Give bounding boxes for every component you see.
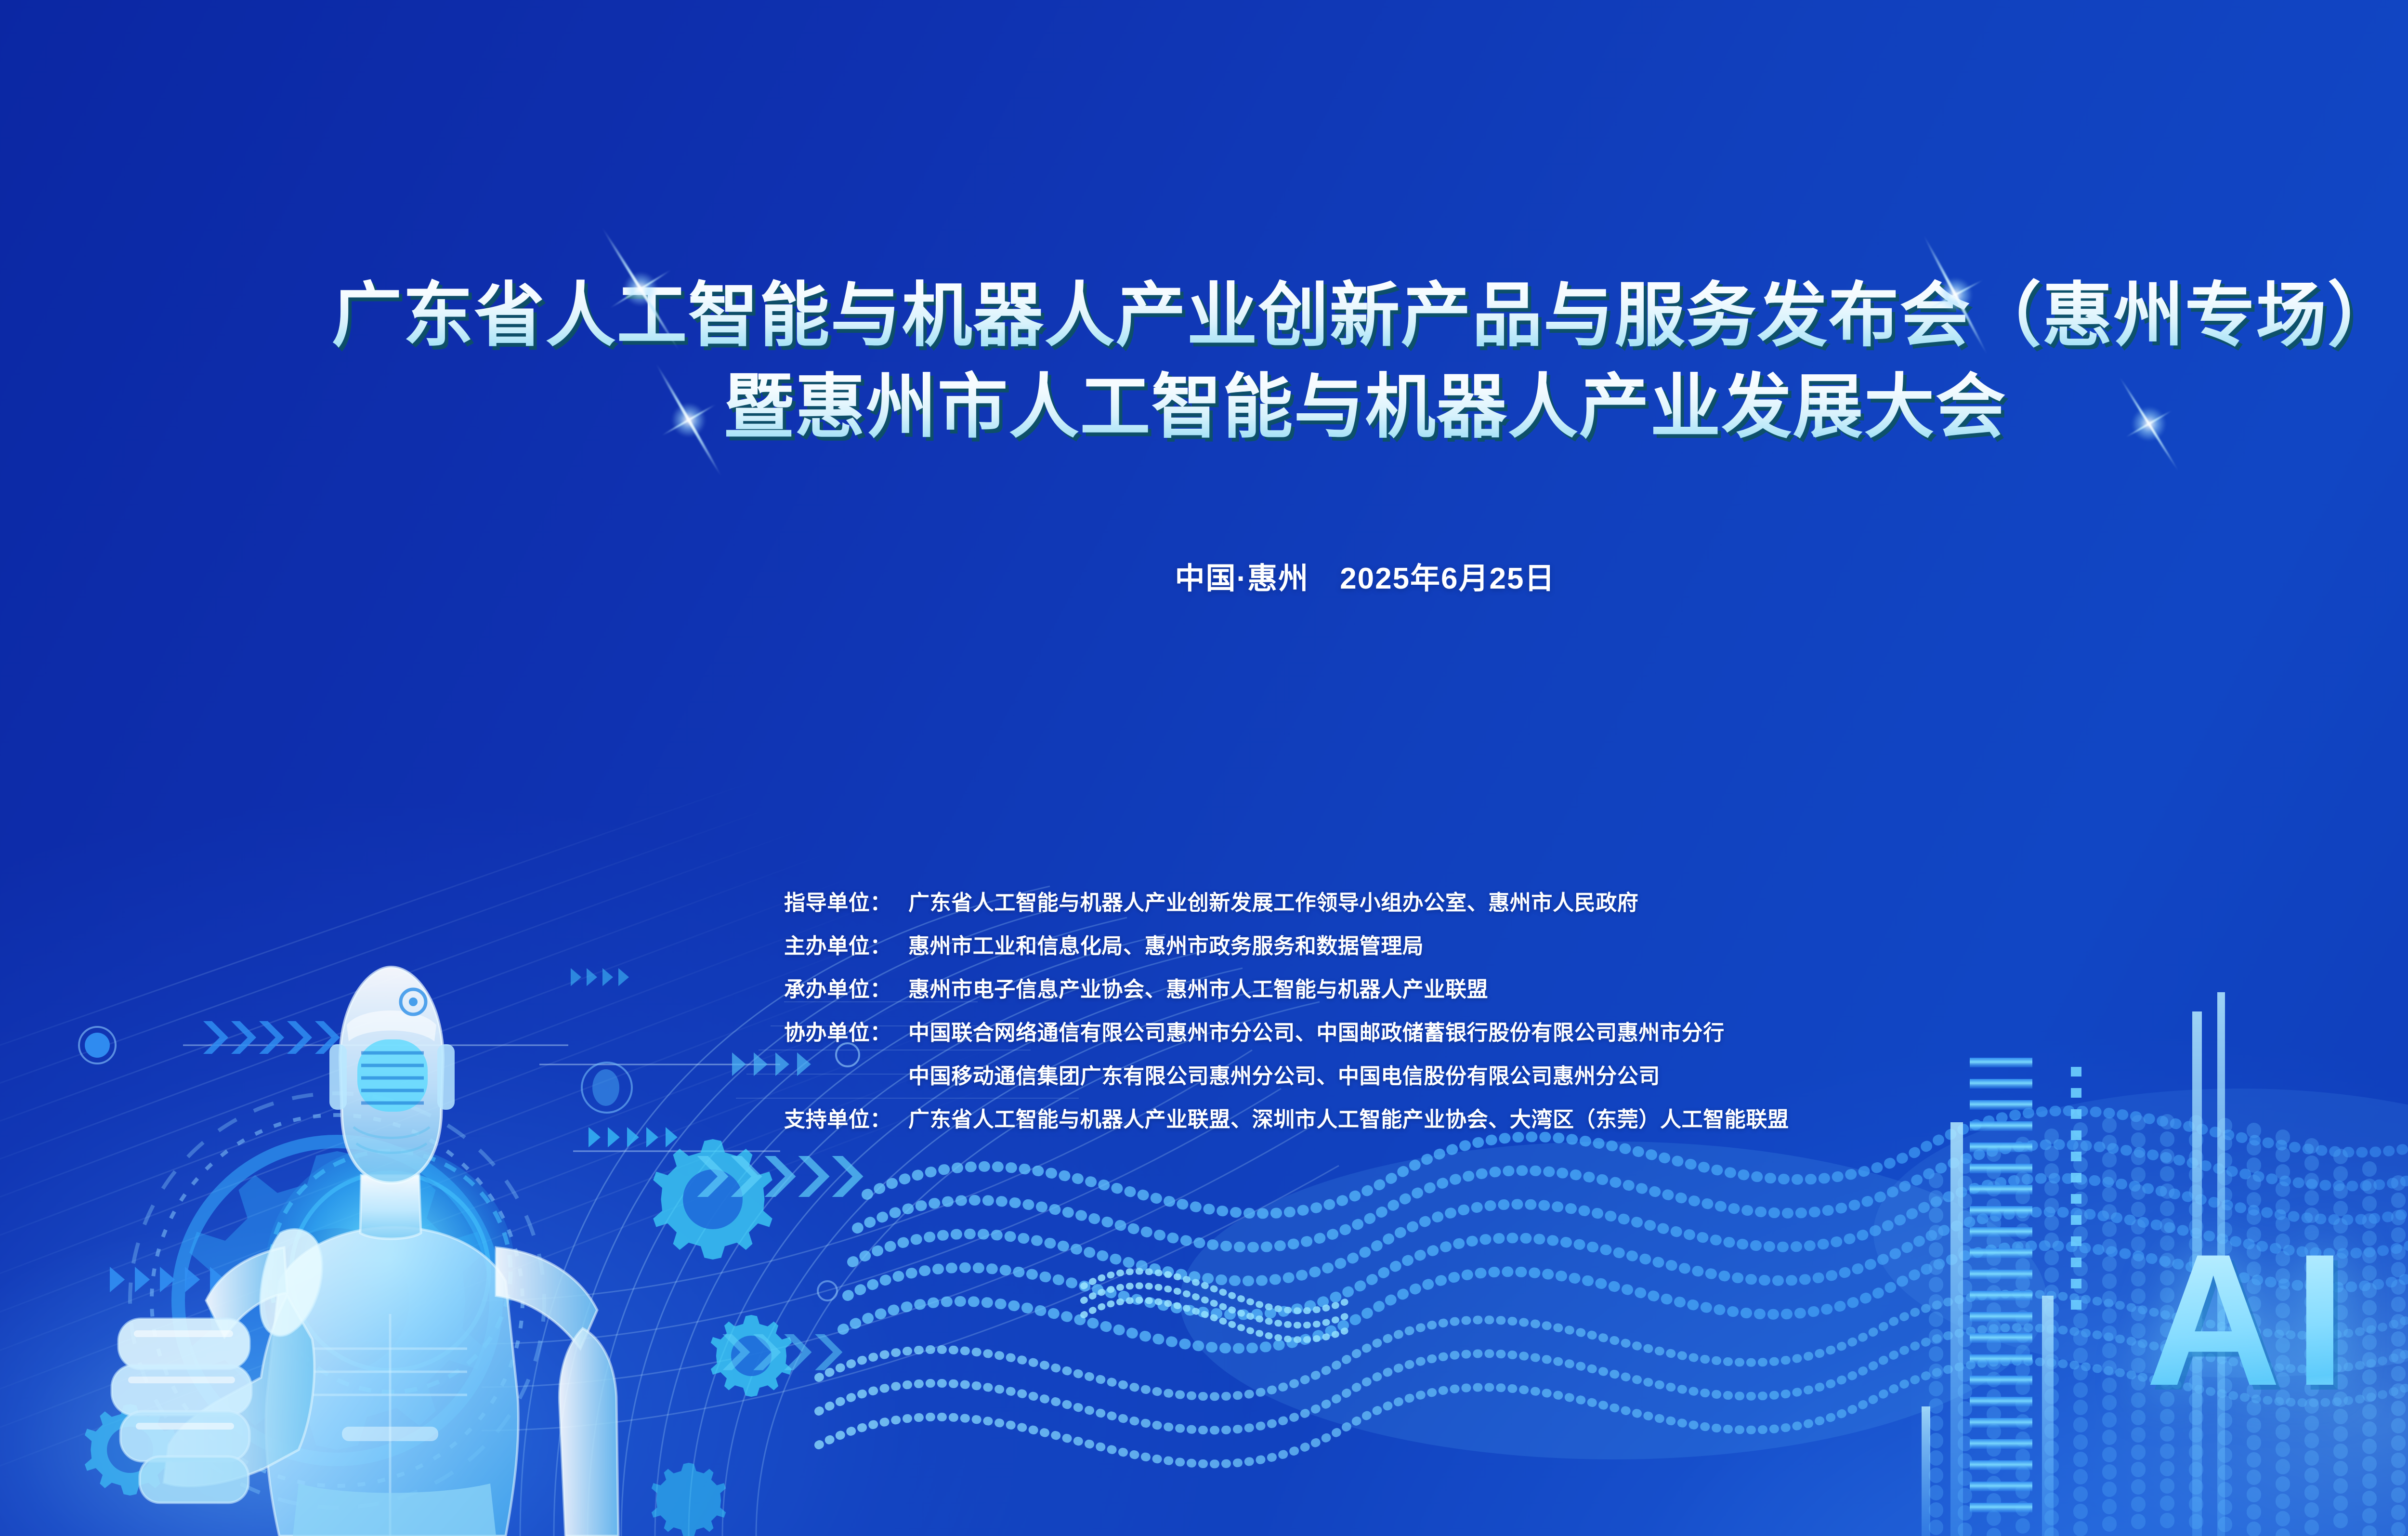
poster-canvas: 广东省人工智能与机器人产业创新产品与服务发布会（惠州专场） 暨惠州市人工智能与机… <box>0 0 2408 1536</box>
organization-label: 协办单位： <box>784 1015 908 1046</box>
organization-label: 指导单位： <box>784 885 908 916</box>
ai-logo: AI <box>2146 1226 2358 1414</box>
poster-title: 广东省人工智能与机器人产业创新产品与服务发布会（惠州专场） 暨惠州市人工智能与机… <box>0 270 2408 453</box>
organization-label: 主办单位： <box>784 929 908 959</box>
organization-value: 惠州市电子信息产业协会、惠州市人工智能与机器人产业联盟 <box>908 972 1789 1003</box>
organization-row: 指导单位： 广东省人工智能与机器人产业创新发展工作领导小组办公室、惠州市人民政府 <box>784 885 1789 916</box>
organization-value: 广东省人工智能与机器人产业创新发展工作领导小组办公室、惠州市人民政府 <box>908 885 1789 916</box>
organization-row: 支持单位： 广东省人工智能与机器人产业联盟、深圳市人工智能产业协会、大湾区（东莞… <box>784 1102 1789 1133</box>
organization-row: 协办单位： 中国联合网络通信有限公司惠州市分公司、中国邮政储蓄银行股份有限公司惠… <box>784 1015 1789 1046</box>
organization-value: 惠州市工业和信息化局、惠州市政务服务和数据管理局 <box>908 929 1789 959</box>
robot-illustration <box>72 915 756 1536</box>
organization-value: 中国移动通信集团广东有限公司惠州分公司、中国电信股份有限公司惠州分公司 <box>908 1059 1789 1090</box>
organization-row-continuation: 协办单位： 中国移动通信集团广东有限公司惠州分公司、中国电信股份有限公司惠州分公… <box>784 1059 1789 1090</box>
organization-value: 中国联合网络通信有限公司惠州市分公司、中国邮政储蓄银行股份有限公司惠州市分行 <box>908 1015 1789 1046</box>
title-line-1: 广东省人工智能与机器人产业创新产品与服务发布会（惠州专场） <box>0 270 2408 361</box>
organization-value: 广东省人工智能与机器人产业联盟、深圳市人工智能产业协会、大湾区（东莞）人工智能联… <box>908 1102 1789 1133</box>
poster-subtitle: 中国·惠州 2025年6月25日 <box>0 554 2408 597</box>
organization-label: 承办单位： <box>784 972 908 1003</box>
organization-row: 主办单位： 惠州市工业和信息化局、惠州市政务服务和数据管理局 <box>784 929 1789 959</box>
organization-label: 支持单位： <box>784 1102 908 1133</box>
organization-list: 指导单位： 广东省人工智能与机器人产业创新发展工作领导小组办公室、惠州市人民政府… <box>784 885 1789 1133</box>
organization-row: 承办单位： 惠州市电子信息产业协会、惠州市人工智能与机器人产业联盟 <box>784 972 1789 1003</box>
title-line-2: 暨惠州市人工智能与机器人产业发展大会 <box>0 361 2408 453</box>
